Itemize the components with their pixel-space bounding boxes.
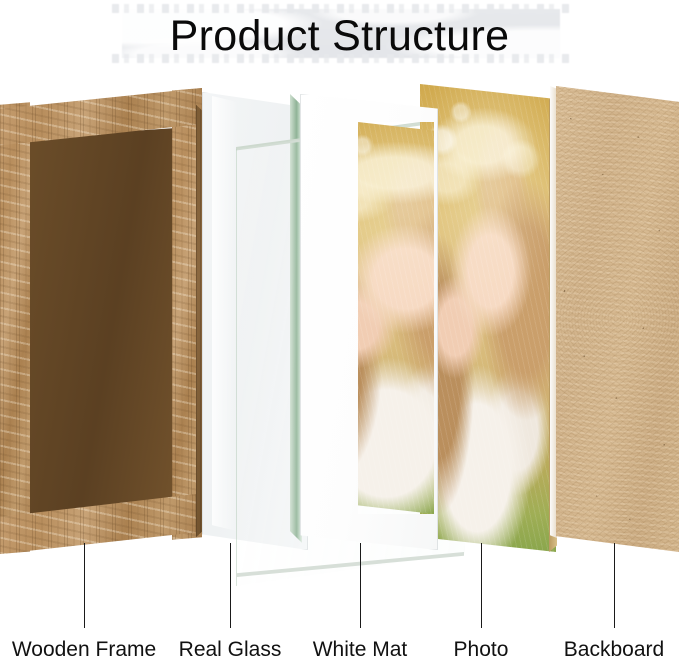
- backboard-face: [556, 86, 679, 552]
- layer-backboard: [556, 86, 679, 552]
- label-white-mat: White Mat: [313, 636, 408, 664]
- frame-body: [0, 88, 202, 554]
- layer-wooden-frame: [0, 88, 202, 554]
- backboard-side-edge: [550, 86, 557, 552]
- layer-labels: Wooden FrameReal GlassWhite MatPhotoBack…: [0, 636, 679, 666]
- label-backboard: Backboard: [564, 636, 664, 664]
- layer-photo: [420, 84, 556, 552]
- glass-pane-bottom-edge: [236, 552, 464, 590]
- label-real-glass: Real Glass: [179, 636, 282, 664]
- glass-sheen-highlight: [212, 96, 238, 536]
- leader-line-backboard: [614, 543, 615, 628]
- layer-real-glass: [202, 92, 308, 550]
- exploded-view-stage: [0, 72, 679, 666]
- leader-line-wooden-frame: [84, 543, 85, 628]
- frame-rail-left: [0, 88, 30, 554]
- photo-scene-image: [420, 84, 556, 552]
- photo-print: [420, 84, 556, 552]
- label-photo: Photo: [454, 636, 509, 664]
- label-wooden-frame: Wooden Frame: [12, 636, 156, 664]
- layer-white-mat: [300, 94, 438, 550]
- leader-line-white-mat: [360, 543, 361, 628]
- mat-board: [300, 94, 438, 550]
- leader-line-photo: [481, 543, 482, 628]
- page-title: Product Structure: [0, 0, 679, 72]
- frame-rail-bottom: [0, 492, 202, 554]
- leader-line-real-glass: [230, 543, 231, 628]
- title-area: Product Structure: [0, 0, 679, 72]
